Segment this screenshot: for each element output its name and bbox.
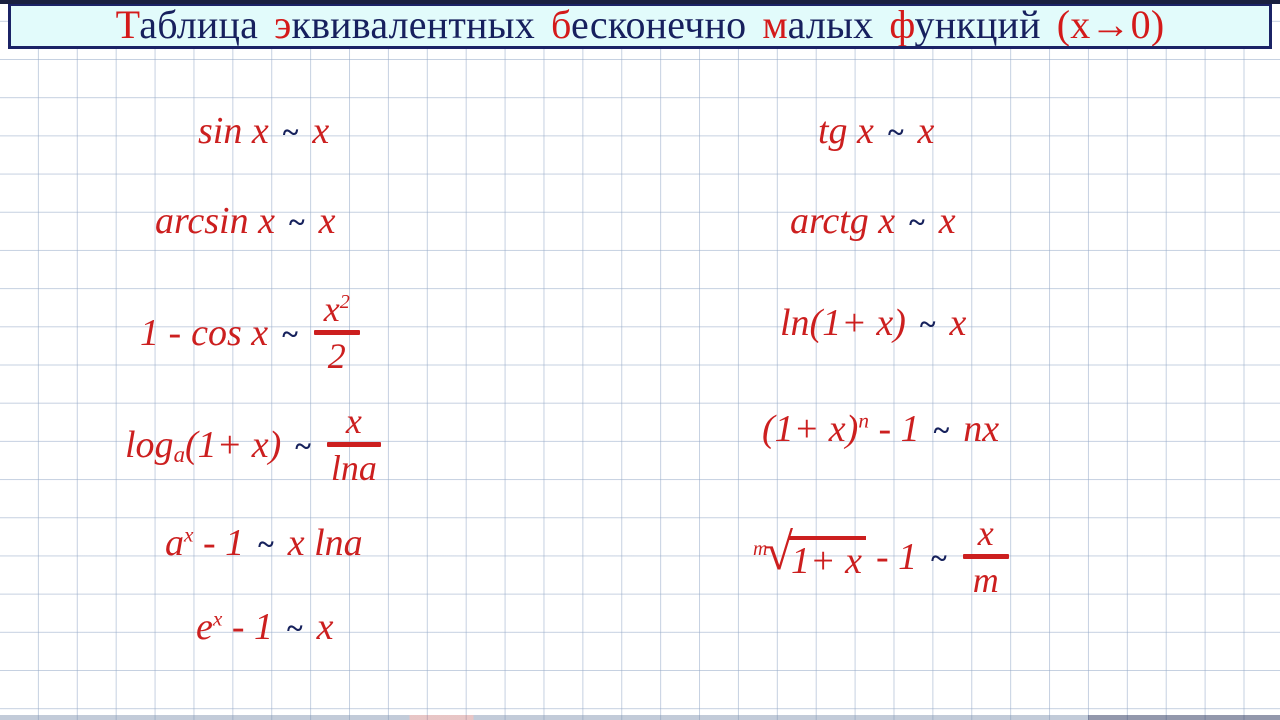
- equivalence-tilde: ~: [874, 118, 918, 148]
- title-segment: м: [762, 4, 787, 47]
- formula-rhs: x: [319, 202, 336, 240]
- formula-table: sin x ~ x arcsin x ~ x 1 - cos x ~ x2 2 …: [0, 52, 1280, 720]
- fraction-numerator: x2: [320, 290, 354, 328]
- formula-row: loga(1+ x) ~ x lna: [125, 402, 383, 487]
- equivalence-tilde: ~: [269, 118, 313, 148]
- formula-lhs: loga(1+ x): [125, 426, 281, 464]
- formula-row: m √ 1+ x - 1 ~ x m: [750, 514, 1011, 599]
- title-banner: Таблицаэквивалентныхбесконечномалыхфункц…: [8, 4, 1272, 49]
- equivalence-tilde: ~: [281, 432, 325, 462]
- formula-row: ax - 1 ~ x lna: [165, 524, 363, 562]
- formula-row: ln(1+ x) ~ x: [780, 304, 966, 342]
- equivalence-tilde: ~: [917, 544, 961, 574]
- fraction: x2 2: [312, 290, 362, 375]
- formula-lhs: (1+ x)n - 1: [762, 410, 920, 448]
- page-title: Таблицаэквивалентныхбесконечномалыхфункц…: [116, 5, 1165, 45]
- title-segment: ф: [889, 4, 914, 47]
- fraction-bar: [963, 554, 1009, 559]
- fraction-denominator: m: [969, 561, 1003, 599]
- fraction-bar: [314, 330, 360, 335]
- formula-rhs: nx: [963, 410, 999, 448]
- title-segment: э: [274, 4, 291, 47]
- fraction-numerator: x: [974, 514, 998, 552]
- title-segment: Т: [116, 4, 140, 47]
- equivalence-tilde: ~: [268, 320, 312, 350]
- equivalence-tilde: ~: [920, 416, 964, 446]
- formula-lhs: ax - 1: [165, 524, 244, 562]
- formula-lhs-suffix: - 1: [876, 538, 917, 576]
- title-segment: алых: [788, 4, 874, 47]
- formula-column-left: sin x ~ x arcsin x ~ x 1 - cos x ~ x2 2 …: [0, 52, 640, 720]
- formula-lhs: tg x: [818, 112, 874, 150]
- formula-rhs: x: [317, 608, 334, 646]
- formula-rhs: x: [949, 304, 966, 342]
- bottom-edge-sliver: [0, 715, 1280, 720]
- fraction: x m: [961, 514, 1011, 599]
- formula-lhs: arctg x: [790, 202, 895, 240]
- exponent: x: [184, 522, 193, 546]
- exponent: n: [858, 408, 869, 432]
- title-segment: (х→0): [1057, 4, 1165, 47]
- formula-row: arcsin x ~ x: [155, 202, 335, 240]
- subscript: a: [174, 442, 185, 467]
- formula-row: tg x ~ x: [818, 112, 934, 150]
- formula-row: (1+ x)n - 1 ~ nx: [762, 410, 999, 448]
- title-segment: аблица: [139, 4, 258, 47]
- fraction-denominator: 2: [324, 337, 350, 375]
- formula-rhs: x: [939, 202, 956, 240]
- formula-lhs: arcsin x: [155, 202, 275, 240]
- nth-root: m √ 1+ x: [750, 535, 866, 579]
- formula-column-right: tg x ~ x arctg x ~ x ln(1+ x) ~ x (1+ x)…: [640, 52, 1280, 720]
- title-segment: ункций: [915, 4, 1041, 47]
- formula-lhs: cos x: [191, 314, 268, 352]
- fraction-denominator: lna: [327, 449, 381, 487]
- formula-rhs: x: [918, 112, 935, 150]
- title-segment: есконечно: [571, 4, 746, 47]
- title-segment: квивалентных: [291, 4, 534, 47]
- formula-lhs: ln(1+ x): [780, 304, 906, 342]
- fraction: x lna: [325, 402, 383, 487]
- exponent: x: [213, 606, 222, 630]
- equivalence-tilde: ~: [244, 530, 288, 560]
- formula-lhs: ex - 1: [196, 608, 273, 646]
- formula-rhs: x lna: [288, 524, 363, 562]
- equivalence-tilde: ~: [906, 310, 950, 340]
- formula-lhs: sin x: [198, 112, 269, 150]
- formula-row: sin x ~ x: [198, 112, 329, 150]
- formula-lhs-prefix: 1 -: [140, 314, 181, 352]
- title-segment: б: [551, 4, 571, 47]
- radicand: 1+ x: [789, 536, 866, 580]
- fraction-bar: [327, 442, 381, 447]
- fraction-numerator: x: [342, 402, 366, 440]
- formula-row: arctg x ~ x: [790, 202, 956, 240]
- formula-row: 1 - cos x ~ x2 2: [140, 290, 362, 375]
- formula-rhs: x: [312, 112, 329, 150]
- equivalence-tilde: ~: [895, 208, 939, 238]
- exponent: 2: [340, 291, 350, 313]
- formula-row: ex - 1 ~ x: [196, 608, 333, 646]
- equivalence-tilde: ~: [273, 614, 317, 644]
- equivalence-tilde: ~: [275, 208, 319, 238]
